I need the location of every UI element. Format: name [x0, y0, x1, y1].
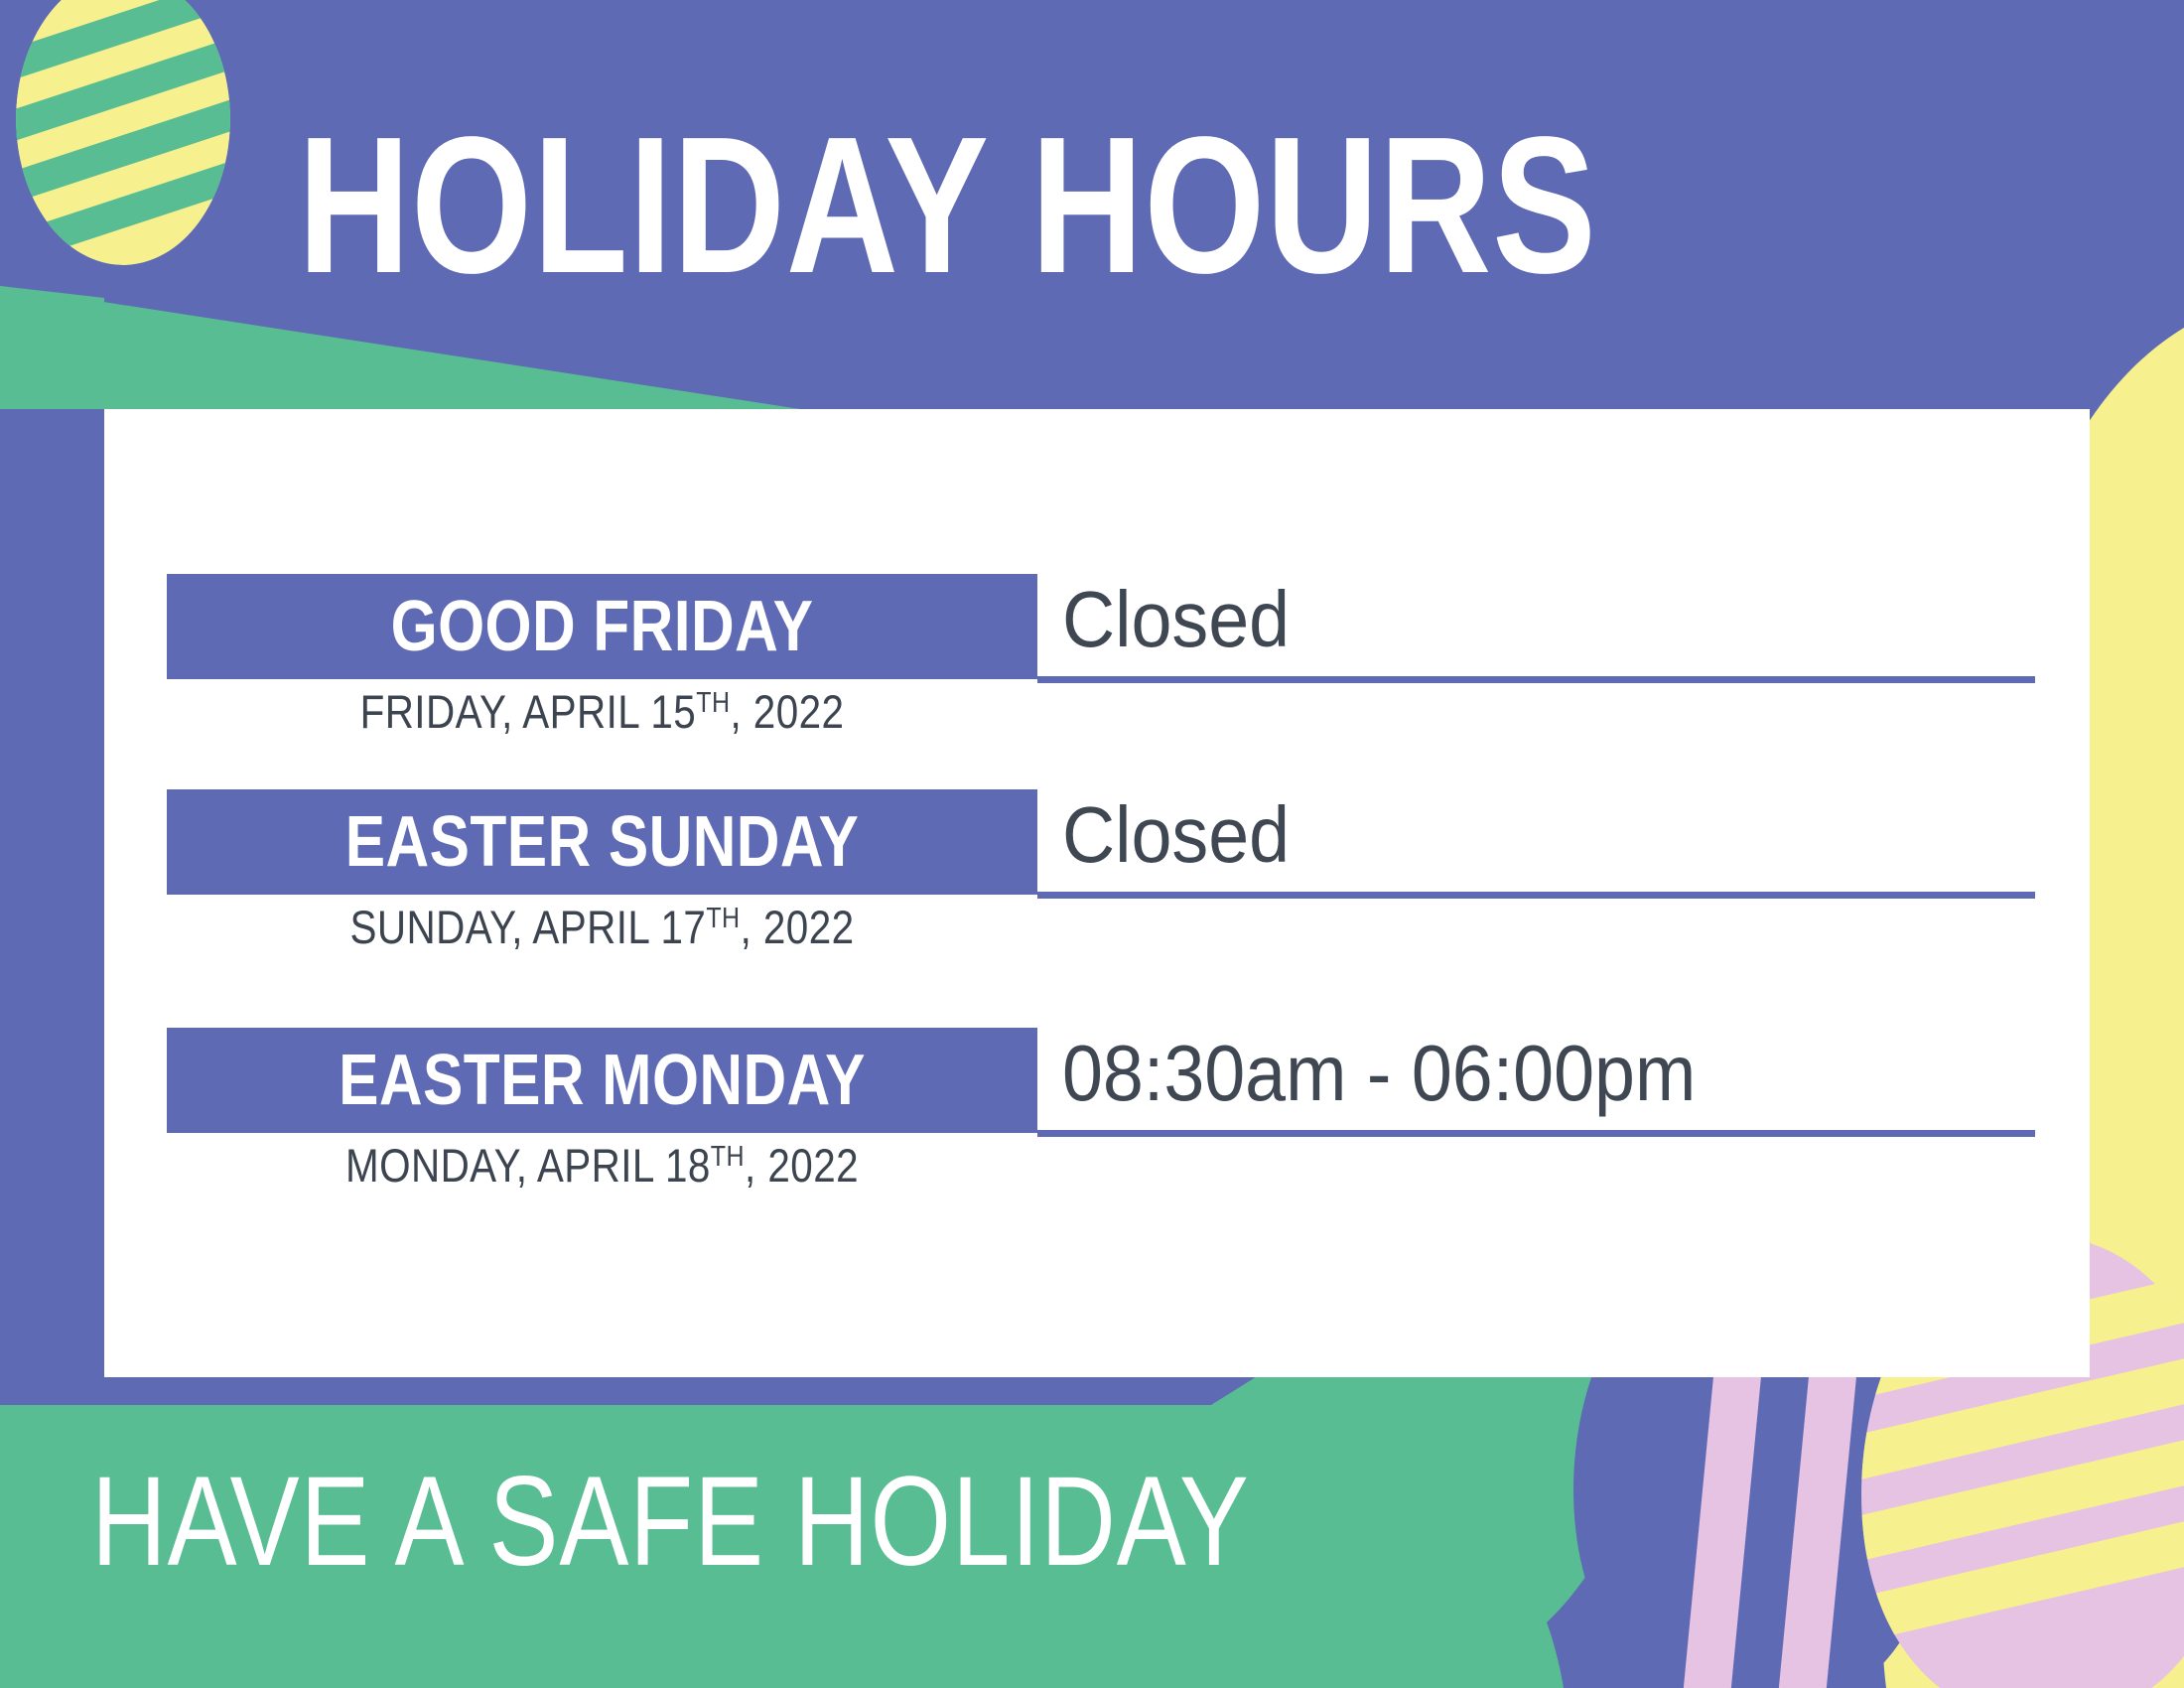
- date-ordinal: TH: [711, 1141, 745, 1173]
- hours-value: Closed: [1062, 564, 1290, 675]
- date-suffix: , 2022: [730, 685, 844, 738]
- hours-underline: [1037, 676, 2035, 683]
- hours-slot: Closed: [1037, 779, 2040, 897]
- holiday-label-band: GOOD FRIDAY: [167, 574, 1037, 679]
- holiday-date: FRIDAY, APRIL 15TH, 2022: [227, 681, 976, 743]
- holiday-name: GOOD FRIDAY: [236, 574, 968, 679]
- holiday-hours-poster: HOLIDAY HOURS GOOD FRIDAY FRIDAY, APRIL …: [0, 0, 2184, 1688]
- holiday-date: SUNDAY, APRIL 17TH, 2022: [227, 897, 976, 958]
- holiday-date: MONDAY, APRIL 18TH, 2022: [227, 1135, 976, 1196]
- date-ordinal: TH: [706, 903, 740, 934]
- date-prefix: FRIDAY, APRIL 15: [360, 685, 697, 738]
- hours-underline: [1037, 892, 2035, 899]
- hours-value: Closed: [1062, 779, 1290, 891]
- date-suffix: , 2022: [745, 1139, 859, 1192]
- footer-message: HAVE A SAFE HOLIDAY: [91, 1458, 1312, 1587]
- holiday-name: EASTER MONDAY: [236, 1028, 968, 1133]
- hours-card: GOOD FRIDAY FRIDAY, APRIL 15TH, 2022 Clo…: [104, 409, 2090, 1377]
- hours-value: 08:30am - 06:00pm: [1062, 1018, 1696, 1129]
- holiday-label-band: EASTER SUNDAY: [167, 789, 1037, 895]
- holiday-name: EASTER SUNDAY: [236, 789, 968, 895]
- date-prefix: SUNDAY, APRIL 17: [349, 901, 706, 953]
- hours-underline: [1037, 1130, 2035, 1137]
- hours-slot: Closed: [1037, 564, 2040, 681]
- green-wedge-fill: [0, 286, 104, 409]
- page-title: HOLIDAY HOURS: [298, 111, 1648, 300]
- date-prefix: MONDAY, APRIL 18: [345, 1139, 711, 1192]
- hours-slot: 08:30am - 06:00pm: [1037, 1018, 2040, 1135]
- date-suffix: , 2022: [741, 901, 855, 953]
- holiday-label-band: EASTER MONDAY: [167, 1028, 1037, 1133]
- date-ordinal: TH: [696, 687, 730, 719]
